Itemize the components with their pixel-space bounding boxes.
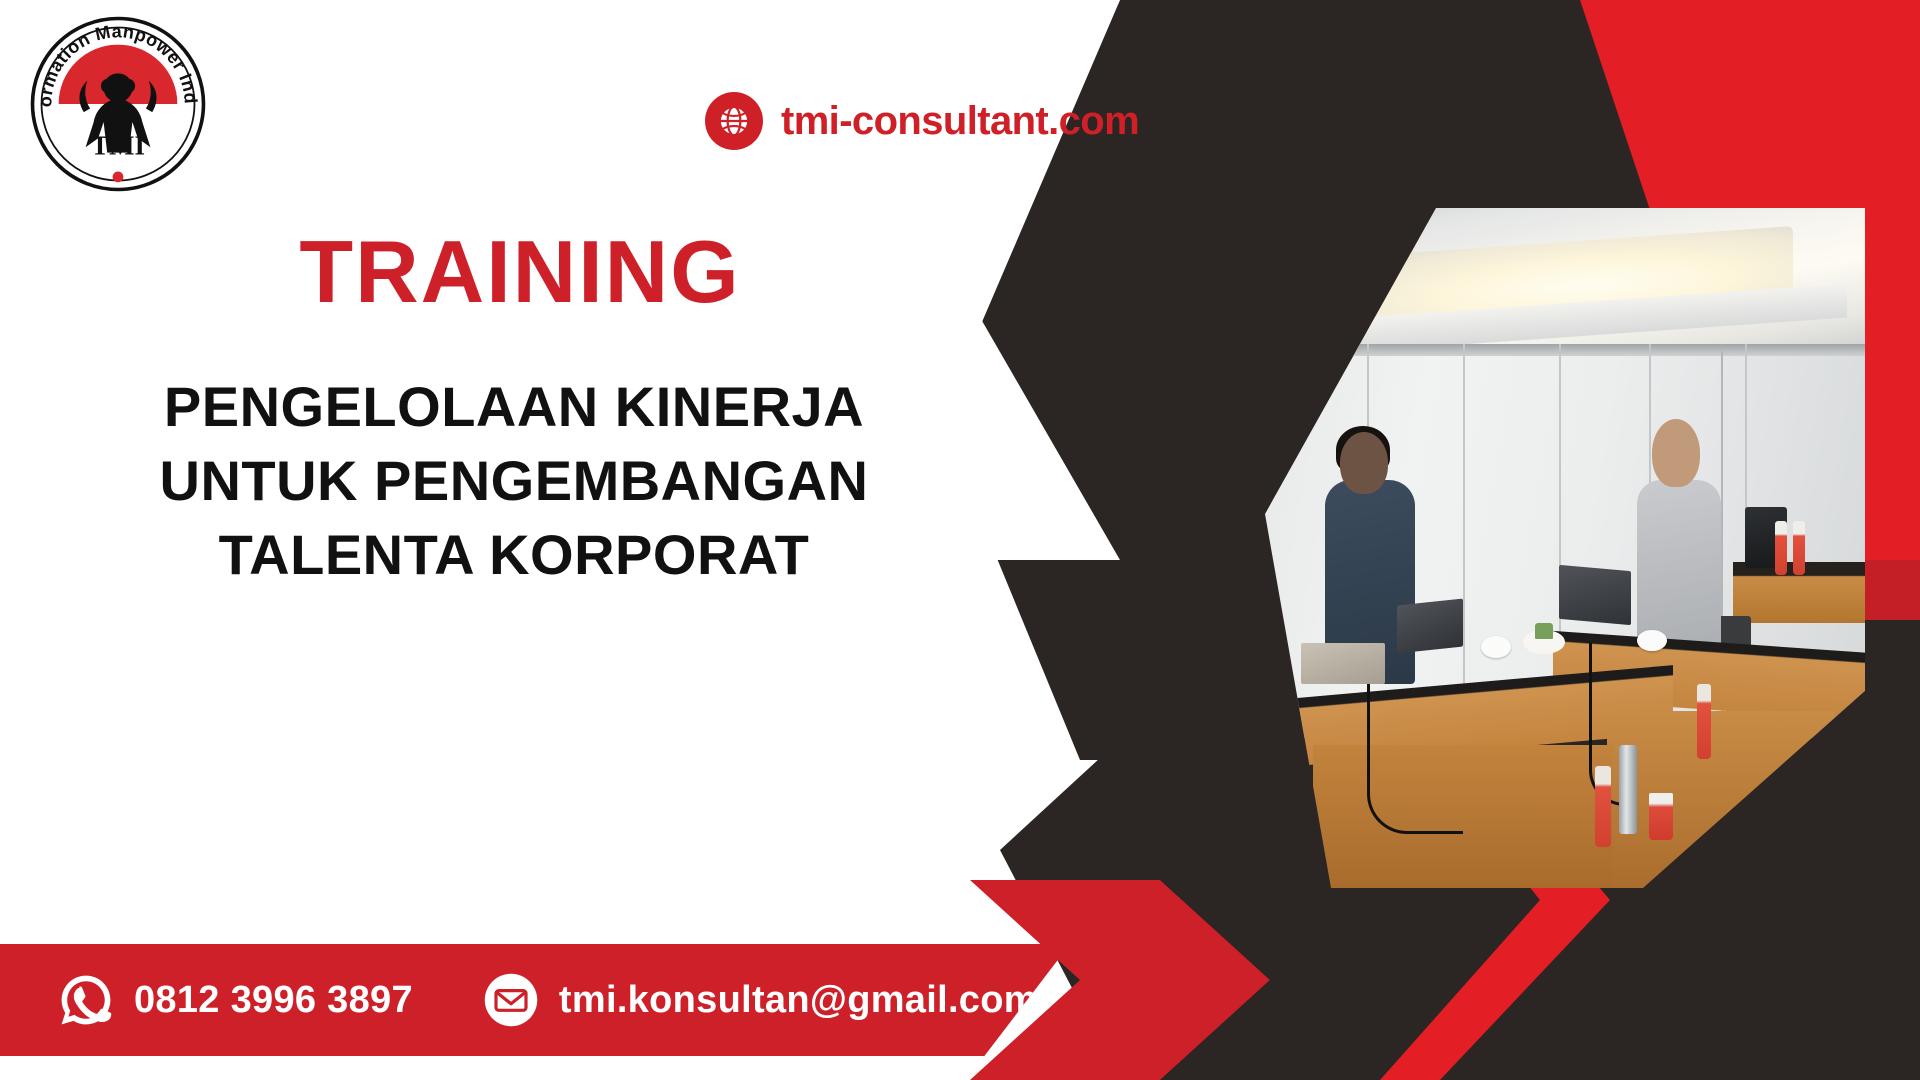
coffee-cup xyxy=(1481,636,1511,658)
laptop xyxy=(1559,565,1631,626)
headline-block: TRAINING PENGELOLAAN KINERJA UNTUK PENGE… xyxy=(0,228,1020,592)
wall-seam xyxy=(1463,344,1465,738)
drink-bottle xyxy=(1595,766,1611,848)
subtitle-line-1: PENGELOLAAN KINERJA xyxy=(8,370,1020,444)
contact-email[interactable]: tmi.konsultan@gmail.com xyxy=(481,970,1038,1030)
phone-number[interactable]: 0812 3996 3897 xyxy=(134,979,413,1022)
participant-right-head xyxy=(1652,419,1700,487)
thermos-flask xyxy=(1619,745,1637,833)
participant-left-head xyxy=(1340,432,1388,493)
desk-front-left xyxy=(1313,745,1613,888)
coffee-cup xyxy=(1637,630,1667,652)
website-line[interactable]: tmi-consultant.com xyxy=(705,92,1139,150)
whatsapp-icon xyxy=(56,970,116,1030)
subtitle-block: PENGELOLAAN KINERJA UNTUK PENGEMBANGAN T… xyxy=(0,370,1020,592)
contact-strip: 0812 3996 3897 tmi.konsultan@gmail.com xyxy=(0,944,1070,1056)
tmi-logo: TMI Transformation Manpower Indonesia xyxy=(28,14,208,194)
contact-phone[interactable]: 0812 3996 3897 xyxy=(56,970,413,1030)
drink-tumbler xyxy=(1649,793,1673,841)
envelope-icon xyxy=(481,970,541,1030)
drink-bottle xyxy=(1775,521,1787,575)
cable xyxy=(1367,684,1463,834)
laptop xyxy=(1397,599,1463,654)
headline-training: TRAINING xyxy=(0,228,1020,316)
training-promo-banner: TMI Transformation Manpower Indonesia tm… xyxy=(0,0,1920,1080)
website-url[interactable]: tmi-consultant.com xyxy=(781,99,1139,144)
logo-center-text: TMI xyxy=(91,130,145,160)
drink-bottle xyxy=(1793,521,1805,575)
subtitle-line-2: UNTUK PENGEMBANGAN xyxy=(8,444,1020,518)
laptop xyxy=(1301,643,1385,684)
snack xyxy=(1535,623,1553,639)
email-address[interactable]: tmi.konsultan@gmail.com xyxy=(559,979,1038,1022)
drink-bottle xyxy=(1697,684,1711,759)
logo-dot xyxy=(113,172,124,183)
globe-icon xyxy=(705,92,763,150)
subtitle-line-3: TALENTA KORPORAT xyxy=(8,518,1020,592)
